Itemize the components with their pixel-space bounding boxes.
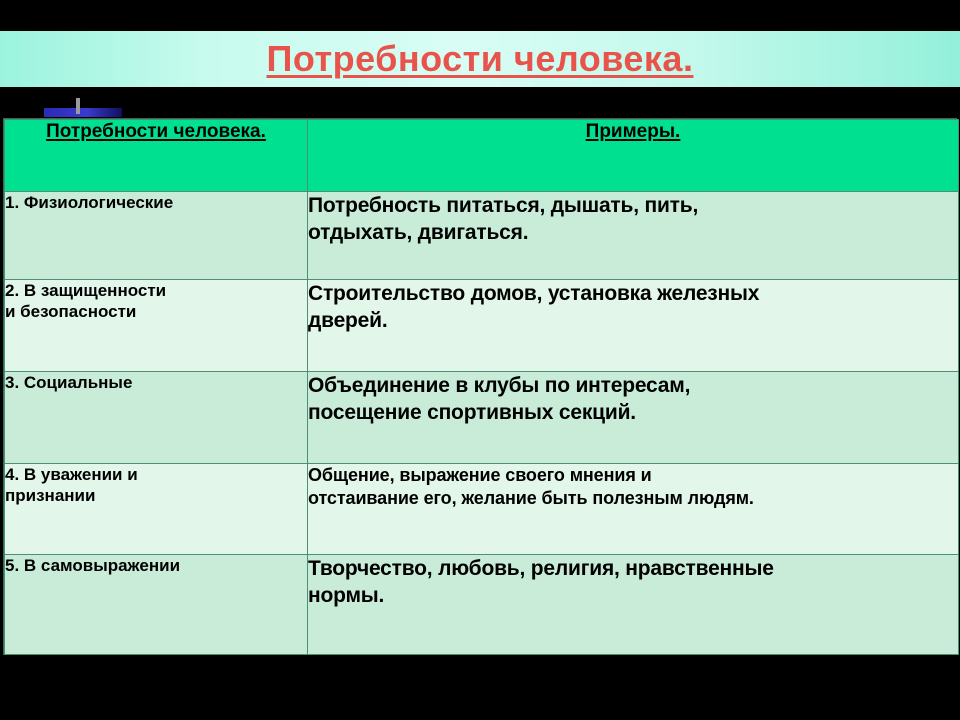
- table-row: 1. Физиологические Потребность питаться,…: [5, 192, 959, 280]
- column-header-needs-label: Потребности человека.: [46, 120, 266, 143]
- need-cell: 1. Физиологические: [5, 192, 308, 280]
- need-label: 3. Социальные: [5, 372, 307, 393]
- example-label: Общение, выражение своего мнения и отста…: [308, 464, 958, 511]
- text-caret-artifact: [76, 98, 80, 114]
- needs-table-container: Потребности человека. Примеры. 1. Физиол…: [3, 118, 957, 655]
- need-label: 4. В уважении и признании: [5, 464, 307, 507]
- example-label: Строительство домов, установка железных …: [308, 280, 958, 335]
- needs-table: Потребности человека. Примеры. 1. Физиол…: [4, 119, 959, 655]
- title-banner: Потребности человека.: [0, 31, 960, 87]
- example-cell: Общение, выражение своего мнения и отста…: [308, 464, 959, 555]
- need-cell: 2. В защищенности и безопасности: [5, 280, 308, 372]
- example-cell: Потребность питаться, дышать, пить, отды…: [308, 192, 959, 280]
- column-header-examples: Примеры.: [308, 120, 959, 192]
- need-label: 2. В защищенности и безопасности: [5, 280, 307, 323]
- table-row: 3. Социальные Объединение в клубы по инт…: [5, 372, 959, 464]
- table-header-row: Потребности человека. Примеры.: [5, 120, 959, 192]
- blue-marker-artifact: [44, 108, 122, 117]
- need-label: 1. Физиологические: [5, 192, 307, 213]
- example-cell: Творчество, любовь, религия, нравственны…: [308, 555, 959, 655]
- example-label: Объединение в клубы по интересам, посеще…: [308, 372, 958, 427]
- table-row: 5. В самовыражении Творчество, любовь, р…: [5, 555, 959, 655]
- example-cell: Объединение в клубы по интересам, посеще…: [308, 372, 959, 464]
- need-cell: 3. Социальные: [5, 372, 308, 464]
- example-label: Творчество, любовь, религия, нравственны…: [308, 555, 958, 610]
- example-cell: Строительство домов, установка железных …: [308, 280, 959, 372]
- example-label: Потребность питаться, дышать, пить, отды…: [308, 192, 958, 247]
- column-header-needs: Потребности человека.: [5, 120, 308, 192]
- need-cell: 4. В уважении и признании: [5, 464, 308, 555]
- table-row: 2. В защищенности и безопасности Строите…: [5, 280, 959, 372]
- page-title: Потребности человека.: [267, 38, 694, 80]
- column-header-examples-label: Примеры.: [586, 120, 681, 143]
- slide-root: Потребности человека. Потребности челове…: [0, 0, 960, 720]
- need-label: 5. В самовыражении: [5, 555, 307, 576]
- table-row: 4. В уважении и признании Общение, выраж…: [5, 464, 959, 555]
- need-cell: 5. В самовыражении: [5, 555, 308, 655]
